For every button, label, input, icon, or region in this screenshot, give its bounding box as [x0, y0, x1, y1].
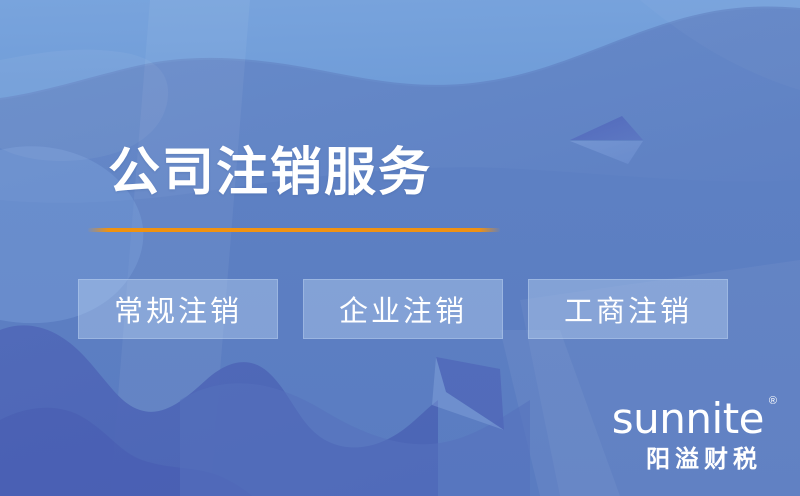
content-layer: 公司注销服务 常规注销 企业注销 工商注销 sunnite ® 阳溢财税: [0, 0, 800, 496]
logo-wordmark: sunnite: [612, 394, 764, 443]
tag-business-deregistration[interactable]: 工商注销: [528, 279, 728, 339]
tag-enterprise-deregistration[interactable]: 企业注销: [303, 279, 503, 339]
title-divider: [88, 228, 500, 232]
divider-bar: [88, 228, 500, 232]
page-title: 公司注销服务: [108, 143, 432, 203]
tag-regular-deregistration[interactable]: 常规注销: [78, 279, 278, 339]
logo-mark: sunnite ®: [612, 398, 764, 440]
promo-banner: 公司注销服务 常规注销 企业注销 工商注销 sunnite ® 阳溢财税: [0, 0, 800, 496]
brand-logo: sunnite ® 阳溢财税: [544, 398, 764, 474]
tag-label: 工商注销: [564, 288, 692, 330]
tag-label: 企业注销: [339, 288, 467, 330]
service-tag-row: 常规注销 企业注销 工商注销: [78, 279, 728, 339]
logo-subtitle: 阳溢财税: [544, 446, 764, 474]
tag-label: 常规注销: [114, 288, 242, 330]
registered-trademark-icon: ®: [769, 396, 777, 407]
